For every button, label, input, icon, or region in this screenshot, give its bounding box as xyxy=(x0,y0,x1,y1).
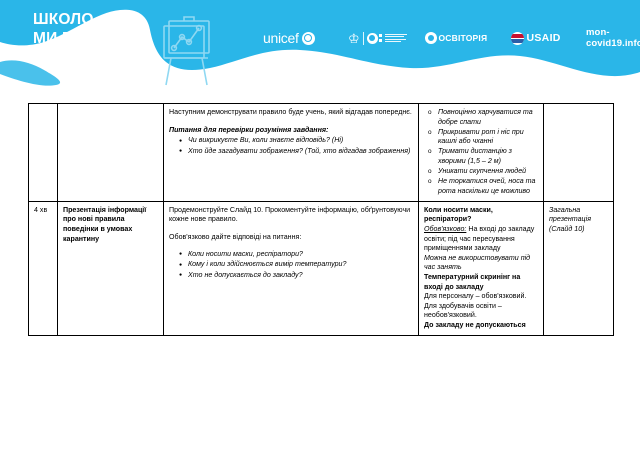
usaid-emblem-icon xyxy=(511,32,524,45)
cell-description: Наступним демонструвати правило буде уче… xyxy=(164,104,419,202)
description-intro: Продемонструйте Слайд 10. Прокоментуйте … xyxy=(169,206,414,225)
cell-topic: Презентація інформації про нові правила … xyxy=(58,201,164,335)
unicef-logo: unicef xyxy=(263,26,315,50)
info-masks-heading: Коли носити маски, респіратори? xyxy=(424,206,539,225)
usaid-logo: USAID xyxy=(511,26,561,50)
cell-materials: Загальна презентація (Слайд 10) xyxy=(544,201,614,335)
divider xyxy=(363,32,364,45)
cell-topic xyxy=(58,104,164,202)
unicef-emblem-icon xyxy=(302,32,315,45)
info-optional-text: Можна не використовувати під час занять xyxy=(424,254,539,273)
list-item: Повноцінно харчуватися та добре спати xyxy=(438,108,539,127)
cell-info: Коли носити маски, респіратори? Обов'язк… xyxy=(419,201,544,335)
info-mandatory-label: Обов'язково: xyxy=(424,225,466,233)
slide-page: ШКОЛО, МИ ГОТОВІ unicef ♔ xyxy=(0,0,640,452)
mon-ukraine-logo: ♔ xyxy=(348,26,407,50)
site-url-label: mon-covid19.info xyxy=(586,26,640,50)
partner-logos: unicef ♔ ОСВІТОРІЯ USAID mon-covid19.inf… xyxy=(263,26,638,52)
info-screening-text: Для персоналу – обов'язковий. Для здобув… xyxy=(424,292,539,321)
cell-info: Повноцінно харчуватися та добре спати Пр… xyxy=(419,104,544,202)
cell-materials xyxy=(544,104,614,202)
info-screening-heading: Температурний скринінг на вході до закла… xyxy=(424,273,539,292)
cell-time: 4 хв xyxy=(29,201,58,335)
cell-description: Продемонструйте Слайд 10. Прокоментуйте … xyxy=(164,201,419,335)
description-question-list: Чи викрикуєте Ви, коли знаєте відповідь?… xyxy=(169,136,414,156)
header-banner: ШКОЛО, МИ ГОТОВІ unicef ♔ xyxy=(0,0,640,95)
list-item: Уникати скупчення людей xyxy=(438,167,539,177)
page-title: ШКОЛО, МИ ГОТОВІ xyxy=(33,10,163,48)
list-item: Коли носити маски, респіратори? xyxy=(188,250,414,260)
site-url-text: mon-covid19.info xyxy=(586,27,640,49)
info-denied-heading: До закладу не допускаються xyxy=(424,321,539,331)
osvitoria-logo: ОСВІТОРІЯ xyxy=(425,26,487,50)
mon-text-lines-icon xyxy=(385,34,407,42)
description-intro: Наступним демонструвати правило буде уче… xyxy=(169,108,414,118)
table-row: 4 хв Презентація інформації про нові пра… xyxy=(29,201,614,335)
info-rules-list: Повноцінно харчуватися та добре спати Пр… xyxy=(424,108,539,196)
lesson-plan-table-wrap: Наступним демонструвати правило буде уче… xyxy=(28,103,613,336)
easel-chart-icon xyxy=(158,13,220,89)
list-item: Прикривати рот і ніс при кашлі або чханн… xyxy=(438,128,539,147)
list-item: Не торкатися очей, носа та рота наскільк… xyxy=(438,177,539,196)
description-question-heading: Питання для перевірки розуміння завдання… xyxy=(169,126,414,136)
osvitoria-logo-text: ОСВІТОРІЯ xyxy=(439,33,488,43)
list-item: Хто йде загадувати зображення? (Той, хто… xyxy=(188,147,414,157)
description-question-list: Коли носити маски, респіратори? Кому і к… xyxy=(169,250,414,281)
unicef-logo-text: unicef xyxy=(263,31,299,45)
trident-icon: ♔ xyxy=(348,32,360,45)
info-mandatory-line: Обов'язково: На вході до закладу освіти;… xyxy=(424,225,539,254)
description-question-heading: Обов'язково дайте відповіді на питання: xyxy=(169,233,414,243)
lesson-plan-table: Наступним демонструвати правило буде уче… xyxy=(28,103,614,336)
list-item: Хто не допускається до закладу? xyxy=(188,271,414,281)
osvitoria-circle-icon xyxy=(425,32,437,44)
mon-dots-icon xyxy=(379,34,382,42)
mon-circle-icon xyxy=(367,33,378,44)
list-item: Тримати дистанцію з хворими (1,5 – 2 м) xyxy=(438,147,539,166)
usaid-logo-text: USAID xyxy=(527,32,561,44)
table-row: Наступним демонструвати правило буде уче… xyxy=(29,104,614,202)
cell-time xyxy=(29,104,58,202)
list-item: Чи викрикуєте Ви, коли знаєте відповідь?… xyxy=(188,136,414,146)
list-item: Кому і коли здійснюється вимір температу… xyxy=(188,260,414,270)
